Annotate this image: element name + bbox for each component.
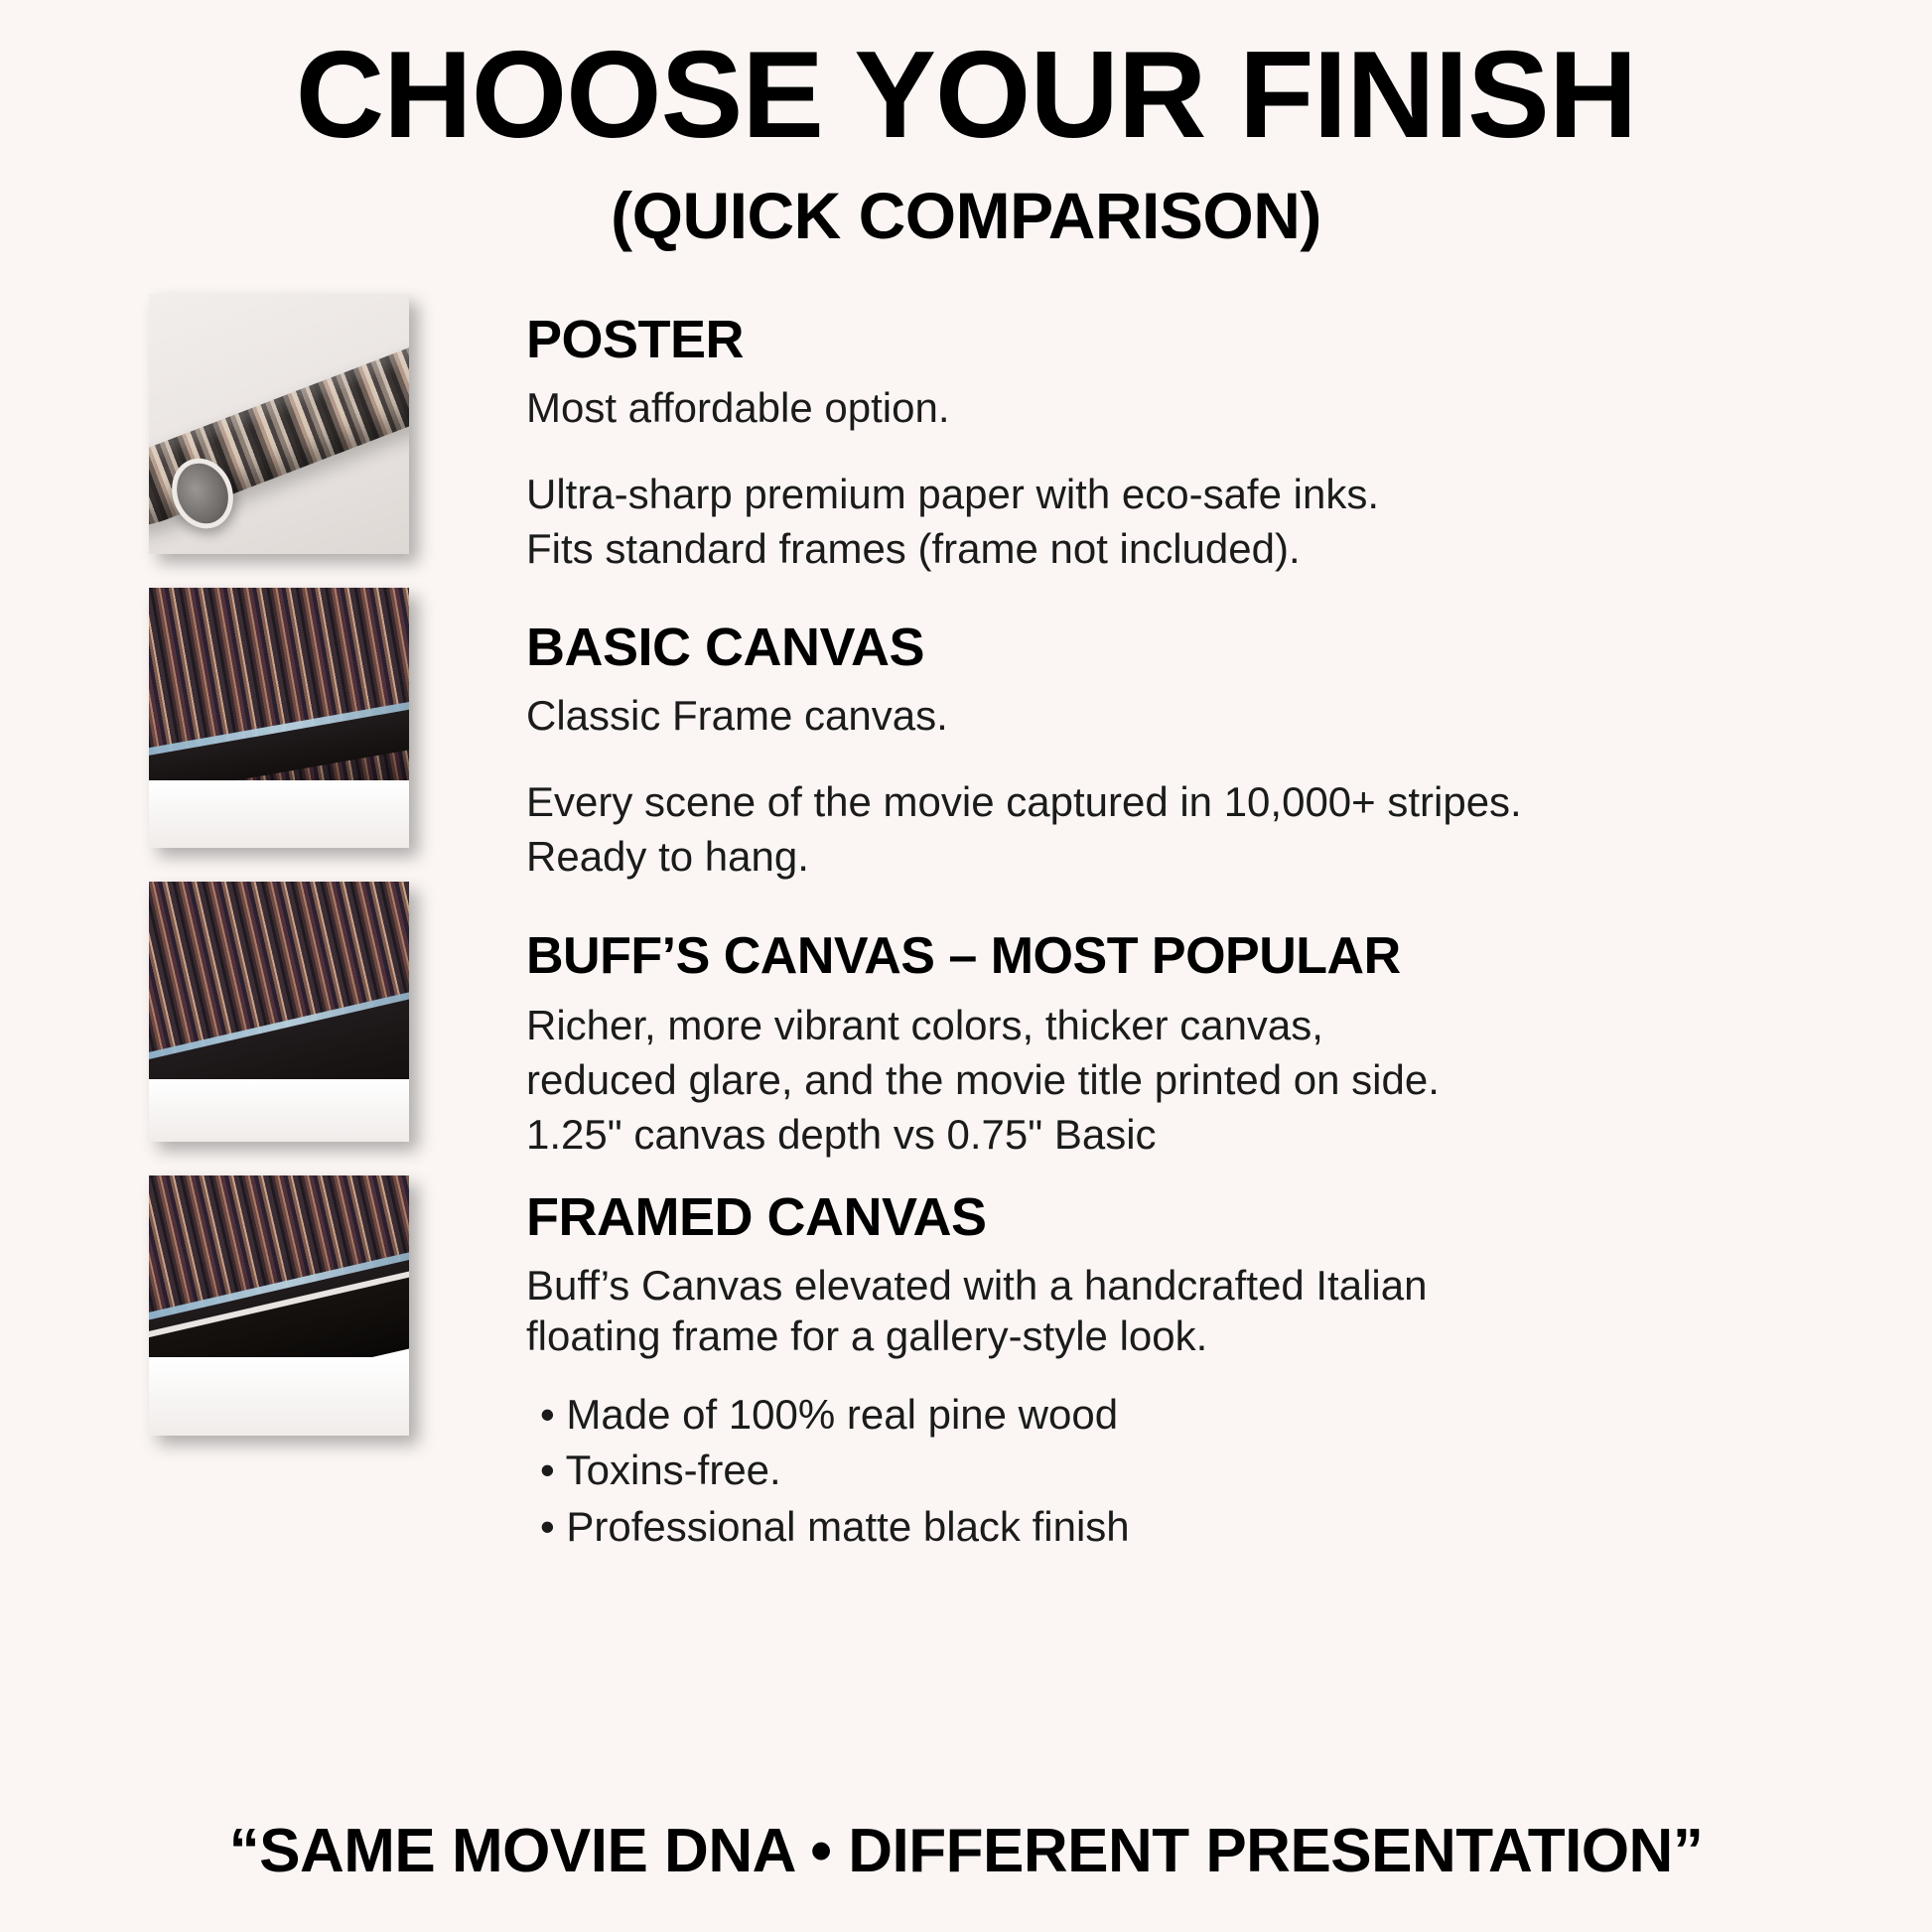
product-thumbnail-poster <box>149 294 409 554</box>
basic-canvas-surface <box>149 780 409 848</box>
framed-canvas-body-line-1: Buff’s Canvas elevated with a handcrafte… <box>526 1262 1427 1309</box>
buffs-canvas-artwork-icon <box>149 882 409 1142</box>
product-comparison-list: POSTER Most affordable option. Ultra-sha… <box>0 294 1932 1469</box>
poster-body-line-1: Ultra-sharp premium paper with eco-safe … <box>526 471 1379 517</box>
product-lead-poster: Most affordable option. <box>526 382 1932 433</box>
framed-canvas-artwork-icon <box>149 1175 409 1436</box>
list-item: Professional matte black finish <box>540 1499 1932 1555</box>
basic-canvas-body-line-2: Ready to hang. <box>526 833 809 880</box>
product-thumbnail-basic-canvas <box>149 588 409 848</box>
poster-body-line-2: Fits standard frames (frame not included… <box>526 525 1301 572</box>
product-row-buffs-canvas: BUFF’S CANVAS – MOST POPULAR Richer, mor… <box>149 882 1932 1175</box>
product-lead-basic-canvas: Classic Frame canvas. <box>526 690 1932 741</box>
product-title-poster: POSTER <box>526 312 1932 368</box>
basic-canvas-body-line-1: Every scene of the movie captured in 10,… <box>526 778 1522 825</box>
list-item: Made of 100% real pine wood <box>540 1387 1932 1443</box>
product-title-basic-canvas: BASIC CANVAS <box>526 620 1932 676</box>
buffs-canvas-body-line-1: Richer, more vibrant colors, thicker can… <box>526 1002 1323 1048</box>
buffs-canvas-body-line-3: 1.25" canvas depth vs 0.75" Basic <box>526 1111 1157 1158</box>
product-info-poster: POSTER Most affordable option. Ultra-sha… <box>409 294 1932 577</box>
buffs-canvas-surface <box>149 1079 409 1142</box>
page-title: CHOOSE YOUR FINISH <box>0 34 1932 157</box>
product-info-basic-canvas: BASIC CANVAS Classic Frame canvas. Every… <box>409 588 1932 885</box>
product-info-framed-canvas: FRAMED CANVAS Buff’s Canvas elevated wit… <box>409 1175 1932 1555</box>
product-body-framed-canvas: Buff’s Canvas elevated with a handcrafte… <box>526 1260 1932 1361</box>
product-thumbnail-framed-canvas <box>149 1175 409 1436</box>
poster-artwork-icon <box>149 294 409 554</box>
product-title-framed-canvas: FRAMED CANVAS <box>526 1189 1932 1246</box>
product-body-buffs-canvas: Richer, more vibrant colors, thicker can… <box>526 998 1932 1163</box>
product-row-framed-canvas: FRAMED CANVAS Buff’s Canvas elevated wit… <box>149 1175 1932 1469</box>
framed-canvas-surface <box>149 1357 409 1436</box>
framed-canvas-feature-list: Made of 100% real pine wood Toxins-free.… <box>526 1387 1932 1555</box>
product-body-basic-canvas: Every scene of the movie captured in 10,… <box>526 774 1932 885</box>
footer-tagline: “SAME MOVIE DNA • DIFFERENT PRESENTATION… <box>0 1816 1932 1886</box>
page-subtitle: (QUICK COMPARISON) <box>0 183 1932 248</box>
product-body-poster: Ultra-sharp premium paper with eco-safe … <box>526 467 1932 577</box>
list-item: Toxins-free. <box>540 1443 1932 1498</box>
framed-canvas-body-line-2: floating frame for a gallery-style look. <box>526 1312 1207 1359</box>
product-thumbnail-buffs-canvas <box>149 882 409 1142</box>
product-row-basic-canvas: BASIC CANVAS Classic Frame canvas. Every… <box>149 588 1932 882</box>
buffs-canvas-body-line-2: reduced glare, and the movie title print… <box>526 1056 1440 1103</box>
basic-canvas-artwork-icon <box>149 588 409 848</box>
product-row-poster: POSTER Most affordable option. Ultra-sha… <box>149 294 1932 588</box>
product-info-buffs-canvas: BUFF’S CANVAS – MOST POPULAR Richer, mor… <box>409 882 1932 1163</box>
header: CHOOSE YOUR FINISH (QUICK COMPARISON) <box>0 0 1932 248</box>
product-title-buffs-canvas: BUFF’S CANVAS – MOST POPULAR <box>526 929 1932 984</box>
